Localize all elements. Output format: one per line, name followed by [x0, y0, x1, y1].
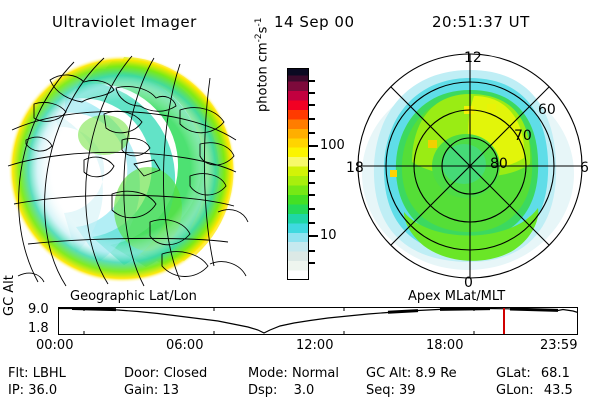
mlat-label-70: 70 [514, 128, 532, 144]
polar-mlat-mlt-plot: 12 6 0 18 60 70 80 [342, 44, 598, 296]
status-glat: GLat: 68.1 [496, 366, 570, 381]
status-door-value: Closed [164, 366, 208, 381]
status-filter-value: LBHL [33, 366, 66, 381]
mlt-spokes [358, 54, 582, 278]
status-dsp-key: Dsp: [248, 383, 277, 398]
colorbar-tick [309, 250, 315, 252]
colorbar-exponent-2: -1 [254, 18, 264, 27]
status-gcalt: GC Alt: 8.9 Re [366, 366, 457, 381]
orbit-altitude-curve [58, 307, 578, 335]
instrument-title: Ultraviolet Imager [52, 13, 197, 31]
status-mode: Mode: Normal [248, 366, 339, 381]
colorbar-tick-major-100 [309, 145, 318, 147]
colorbar-tick [309, 118, 315, 120]
current-time-marker [503, 308, 505, 334]
colorbar-panel: photon cm-2s-1 100 10 [262, 60, 342, 300]
mlat-label-80: 80 [490, 156, 508, 172]
colorbar-tick [309, 262, 315, 264]
status-seq-value: 39 [399, 383, 416, 398]
mlt-label-6: 6 [580, 160, 589, 176]
colorbar-tick [309, 194, 315, 196]
colorbar-tick [309, 80, 315, 82]
status-gain-key: Gain: [124, 383, 158, 398]
status-gcalt-key: GC Alt: [366, 366, 411, 381]
status-seq-key: Seq: [366, 383, 395, 398]
polar-panel-caption: Apex MLat/MLT [408, 289, 505, 304]
status-filter: Flt: LBHL [8, 366, 66, 381]
status-mode-value: Normal [292, 366, 339, 381]
colorbar-tick [309, 132, 315, 134]
colorbar-tick [309, 208, 315, 210]
status-gain: Gain: 13 [124, 383, 179, 398]
status-gcalt-value: 8.9 Re [415, 366, 456, 381]
status-bar: Flt: LBHL IP: 36.0 Door: Closed Gain: 13… [0, 366, 600, 400]
status-glon: GLon: 43.5 [496, 383, 573, 398]
orbit-x-tick-1800: 18:00 [426, 338, 463, 353]
auroral-emission-layer [8, 55, 236, 283]
orbit-altitude-panel[interactable]: GC Alt 9.0 1.8 Geographic Lat/Lon Apex M… [0, 292, 600, 358]
status-door-key: Door: [124, 366, 159, 381]
orbit-y-axis-label: GC Alt [2, 275, 17, 316]
colorbar-tick [309, 104, 315, 106]
colorbar-unit-seconds: s [255, 27, 270, 34]
status-ip-key: IP: [8, 383, 24, 398]
status-glon-key: GLon: [496, 383, 534, 398]
colorbar-tick-major-10 [309, 235, 318, 237]
colorbar-tick [309, 170, 315, 172]
colorbar-unit-text: photon cm [255, 42, 270, 112]
colorbar-tick [309, 182, 315, 184]
status-dsp-value: 3.0 [282, 383, 315, 398]
globe-panel-caption: Geographic Lat/Lon [70, 289, 197, 304]
orbit-y-tick-high: 9.0 [28, 302, 49, 317]
status-ip: IP: 36.0 [8, 383, 57, 398]
orbit-x-tick-2359: 23:59 [540, 338, 577, 353]
status-seq: Seq: 39 [366, 383, 416, 398]
orbit-y-tick-low: 1.8 [28, 321, 49, 336]
status-filter-key: Flt: [8, 366, 29, 381]
colorbar-axis-title: photon cm-2s-1 [254, 0, 270, 112]
colorbar-tick [309, 92, 315, 94]
header-bar: Ultraviolet Imager 14 Sep 00 20:51:37 UT [0, 6, 600, 32]
colorbar-label-10: 10 [320, 228, 337, 243]
status-door: Door: Closed [124, 366, 207, 381]
status-ip-value: 36.0 [28, 383, 57, 398]
status-glat-key: GLat: [496, 366, 531, 381]
status-glon-value: 43.5 [538, 383, 573, 398]
colorbar-tick [309, 222, 315, 224]
colorbar-gradient[interactable] [287, 68, 309, 280]
mlt-label-18: 18 [346, 160, 364, 176]
orbit-x-tick-0600: 06:00 [166, 338, 203, 353]
observation-date: 14 Sep 00 [274, 13, 354, 31]
polar-auroral-oval [362, 70, 574, 270]
mlt-label-12: 12 [464, 50, 482, 66]
orbit-x-tick-0000: 00:00 [36, 338, 73, 353]
status-glat-value: 68.1 [535, 366, 570, 381]
status-dsp: Dsp: 3.0 [248, 383, 314, 398]
mlat-label-60: 60 [538, 102, 556, 118]
status-mode-key: Mode: [248, 366, 288, 381]
polar-dial-panel[interactable]: 12 6 0 18 60 70 80 [342, 44, 598, 296]
globe-orthographic-view [4, 44, 266, 294]
orbit-x-tick-1200: 12:00 [296, 338, 333, 353]
status-gain-value: 13 [162, 383, 179, 398]
globe-image-panel[interactable] [4, 44, 266, 294]
colorbar-exponent-1: -2 [254, 33, 264, 42]
colorbar-tick [309, 158, 315, 160]
observation-time: 20:51:37 UT [432, 13, 530, 31]
